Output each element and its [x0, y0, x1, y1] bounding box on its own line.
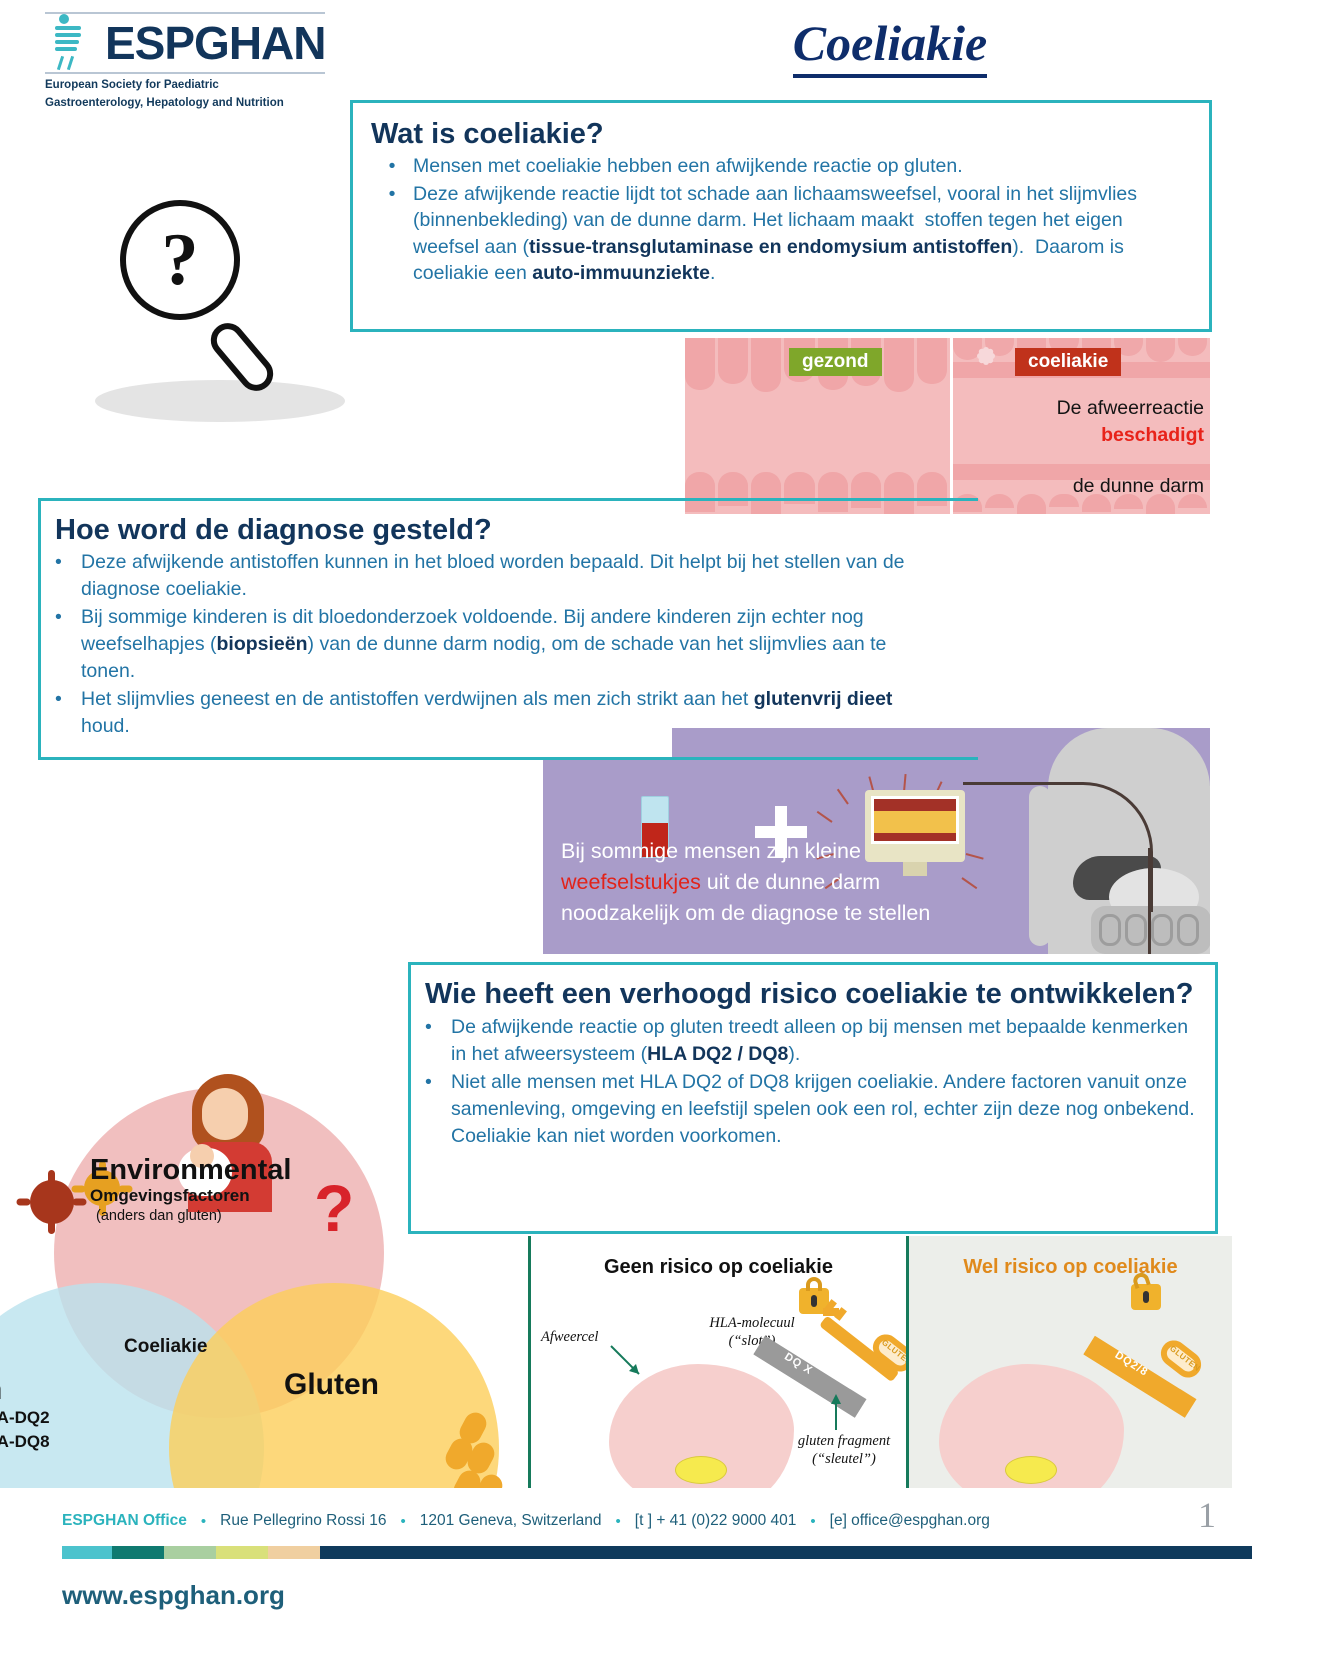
- footer-office: ESPGHAN Office: [62, 1512, 187, 1530]
- list-item: • Bij sommige kinderen is dit bloedonder…: [55, 604, 935, 685]
- section-what-is-coeliakie: Wat is coeliakie? • Mensen met coeliakie…: [350, 100, 1212, 332]
- padlock-open-icon: [1131, 1284, 1161, 1310]
- label-coeliac-badge: coeliakie: [1015, 348, 1121, 376]
- question-mark-glyph: ?: [120, 200, 240, 320]
- arrow-to-fragment-icon: [827, 1394, 845, 1432]
- magnifier-shadow: [95, 380, 345, 422]
- footer-separator: •: [201, 1513, 206, 1530]
- venn-label-center-coeliakie: Coeliakie: [124, 1336, 207, 1358]
- biopsy-caption-part1: Bij sommige mensen zijn kleine: [561, 839, 861, 863]
- biopsy-figure: Bij sommige mensen zijn kleine weefselst…: [543, 728, 1210, 954]
- espghan-logo: ESPGHAN European Society for Paediatric …: [45, 12, 335, 107]
- section-what-heading: Wat is coeliakie?: [371, 117, 1187, 151]
- espghan-mark-icon: [45, 16, 97, 70]
- section-risk-heading: Wie heeft een verhoogd risico coeliakie …: [425, 977, 1197, 1012]
- bullet-text: Deze afwijkende antistoffen kunnen in he…: [81, 549, 935, 603]
- footer-separator: •: [810, 1513, 815, 1530]
- bullet-glyph: •: [371, 181, 413, 287]
- section-diagnose-bullets: • Deze afwijkende antistoffen kunnen in …: [55, 549, 935, 740]
- magnifier-question-icon: ?: [95, 190, 355, 440]
- page-footer: ESPGHAN Office • Rue Pellegrino Rossi 16…: [0, 1488, 1327, 1659]
- immune-cell-icon: [959, 344, 1005, 370]
- venn-label-environmental-nl: Omgevingsfactoren: [90, 1186, 250, 1206]
- venn-label-environmental-en: Environmental: [90, 1154, 291, 1187]
- footer-separator: •: [616, 1513, 621, 1530]
- list-item: • Niet alle mensen met HLA DQ2 of DQ8 kr…: [425, 1069, 1197, 1150]
- bullet-glyph: •: [371, 153, 413, 180]
- bullet-text: Deze afwijkende reactie lijdt tot schade…: [413, 181, 1187, 287]
- logo-subtitle-line1: European Society for Paediatric: [45, 78, 335, 92]
- bullet-text: De afwijkende reactie op gluten treedt a…: [451, 1014, 1197, 1068]
- footer-separator: •: [400, 1513, 405, 1530]
- healthy-intestine-pane: gezond: [685, 338, 953, 514]
- section-what-bullets: • Mensen met coeliakie hebben een afwijk…: [371, 153, 1187, 287]
- gut-caption-line2: beschadigt: [953, 422, 1204, 449]
- section-risk-bullets: • De afwijkende reactie op gluten treedt…: [425, 1014, 1197, 1150]
- label-hla-line1: HLA-molecuul: [677, 1314, 827, 1332]
- bullet-glyph: •: [55, 604, 81, 685]
- venn-label-environmental-note: (anders dan gluten): [96, 1208, 222, 1224]
- footer-color-bar: [62, 1546, 1252, 1559]
- list-item: • Deze afwijkende reactie lijdt tot scha…: [371, 181, 1187, 287]
- bullet-text: Niet alle mensen met HLA DQ2 of DQ8 krij…: [451, 1069, 1197, 1150]
- label-fragment-line1: gluten fragment: [769, 1432, 906, 1450]
- bullet-text: Het slijmvlies geneest en de antistoffen…: [81, 686, 935, 740]
- footer-website[interactable]: www.espghan.org: [62, 1580, 285, 1611]
- biopsy-caption: Bij sommige mensen zijn kleine weefselst…: [561, 836, 991, 929]
- bullet-glyph: •: [425, 1014, 451, 1068]
- coeliac-intestine-pane: coeliakie De afweerreactie beschadigt de…: [953, 338, 1210, 514]
- venn-label-hla-dq8: HLA-DQ8: [0, 1432, 50, 1452]
- footer-phone: [t ] + 41 (0)22 9000 401: [635, 1512, 797, 1530]
- endoscope-cable-vertical: [1148, 848, 1151, 954]
- bullet-text: Mensen met coeliakie hebben een afwijken…: [413, 153, 1187, 180]
- virus-icon-red: [30, 1180, 74, 1224]
- footer-address: Rue Pellegrino Rossi 16: [220, 1512, 386, 1530]
- footer-city: 1201 Geneva, Switzerland: [420, 1512, 602, 1530]
- biopsy-caption-highlight: weefselstukjes: [561, 870, 701, 894]
- label-healthy-badge: gezond: [789, 348, 882, 376]
- logo-bottom-rule: [45, 72, 325, 74]
- logo-main-row: ESPGHAN: [45, 14, 335, 72]
- page-title-text: Coeliakie: [793, 14, 987, 78]
- venn-label-gluten: Gluten: [284, 1368, 379, 1402]
- gut-caption-line3: de dunne darm: [953, 473, 1204, 500]
- section-diagnose: Hoe word de diagnose gesteld? • Deze afw…: [38, 498, 672, 760]
- arrow-to-cell-icon: [609, 1344, 649, 1384]
- footer-contact-row: ESPGHAN Office • Rue Pellegrino Rossi 16…: [62, 1506, 1252, 1536]
- page-title: Coeliakie: [600, 14, 1180, 78]
- section-diagnose-heading: Hoe word de diagnose gesteld?: [55, 513, 656, 547]
- label-afweercel: Afweercel: [541, 1328, 598, 1346]
- footer-email[interactable]: [e] office@espghan.org: [830, 1512, 990, 1530]
- logo-subtitle-line2: Gastroenterology, Hepatology and Nutriti…: [45, 96, 335, 110]
- bullet-glyph: •: [55, 686, 81, 740]
- gut-caption: De afweerreactie beschadigt de dunne dar…: [953, 395, 1204, 500]
- venn-question-mark: ?: [314, 1170, 354, 1246]
- label-hla-line2: (“slot”): [677, 1332, 827, 1350]
- list-item: • Deze afwijkende antistoffen kunnen in …: [55, 549, 935, 603]
- section-risk: Wie heeft een verhoogd risico coeliakie …: [408, 962, 1218, 1234]
- label-fragment-line2: (“sleutel”): [769, 1450, 906, 1468]
- gut-caption-line1: De afweerreactie: [953, 395, 1204, 422]
- bullet-glyph: •: [55, 549, 81, 603]
- list-item: • De afwijkende reactie op gluten treedt…: [425, 1014, 1197, 1068]
- page-number: 1: [1198, 1494, 1216, 1536]
- label-gluten-fragment: gluten fragment (“sleutel”): [769, 1432, 906, 1468]
- panel-no-risk-title: Geen risico op coeliakie: [531, 1256, 906, 1279]
- list-item: • Mensen met coeliakie hebben een afwijk…: [371, 153, 1187, 180]
- label-hla-molecule: HLA-molecuul (“slot”): [677, 1314, 827, 1350]
- intestine-comparison-figure: gezond coeliakie De afweerreactie bescha…: [685, 338, 1213, 514]
- venn-label-gen: Gen: [0, 1373, 2, 1407]
- bullet-glyph: •: [425, 1069, 451, 1150]
- logo-wordmark: ESPGHAN: [105, 20, 325, 66]
- venn-label-hla-dq2: HLA-DQ2: [0, 1408, 50, 1428]
- bullet-text: Bij sommige kinderen is dit bloedonderzo…: [81, 604, 935, 685]
- list-item: • Het slijmvlies geneest en de antistoff…: [55, 686, 935, 740]
- panel-risk-title: Wel risico op coeliakie: [909, 1256, 1232, 1279]
